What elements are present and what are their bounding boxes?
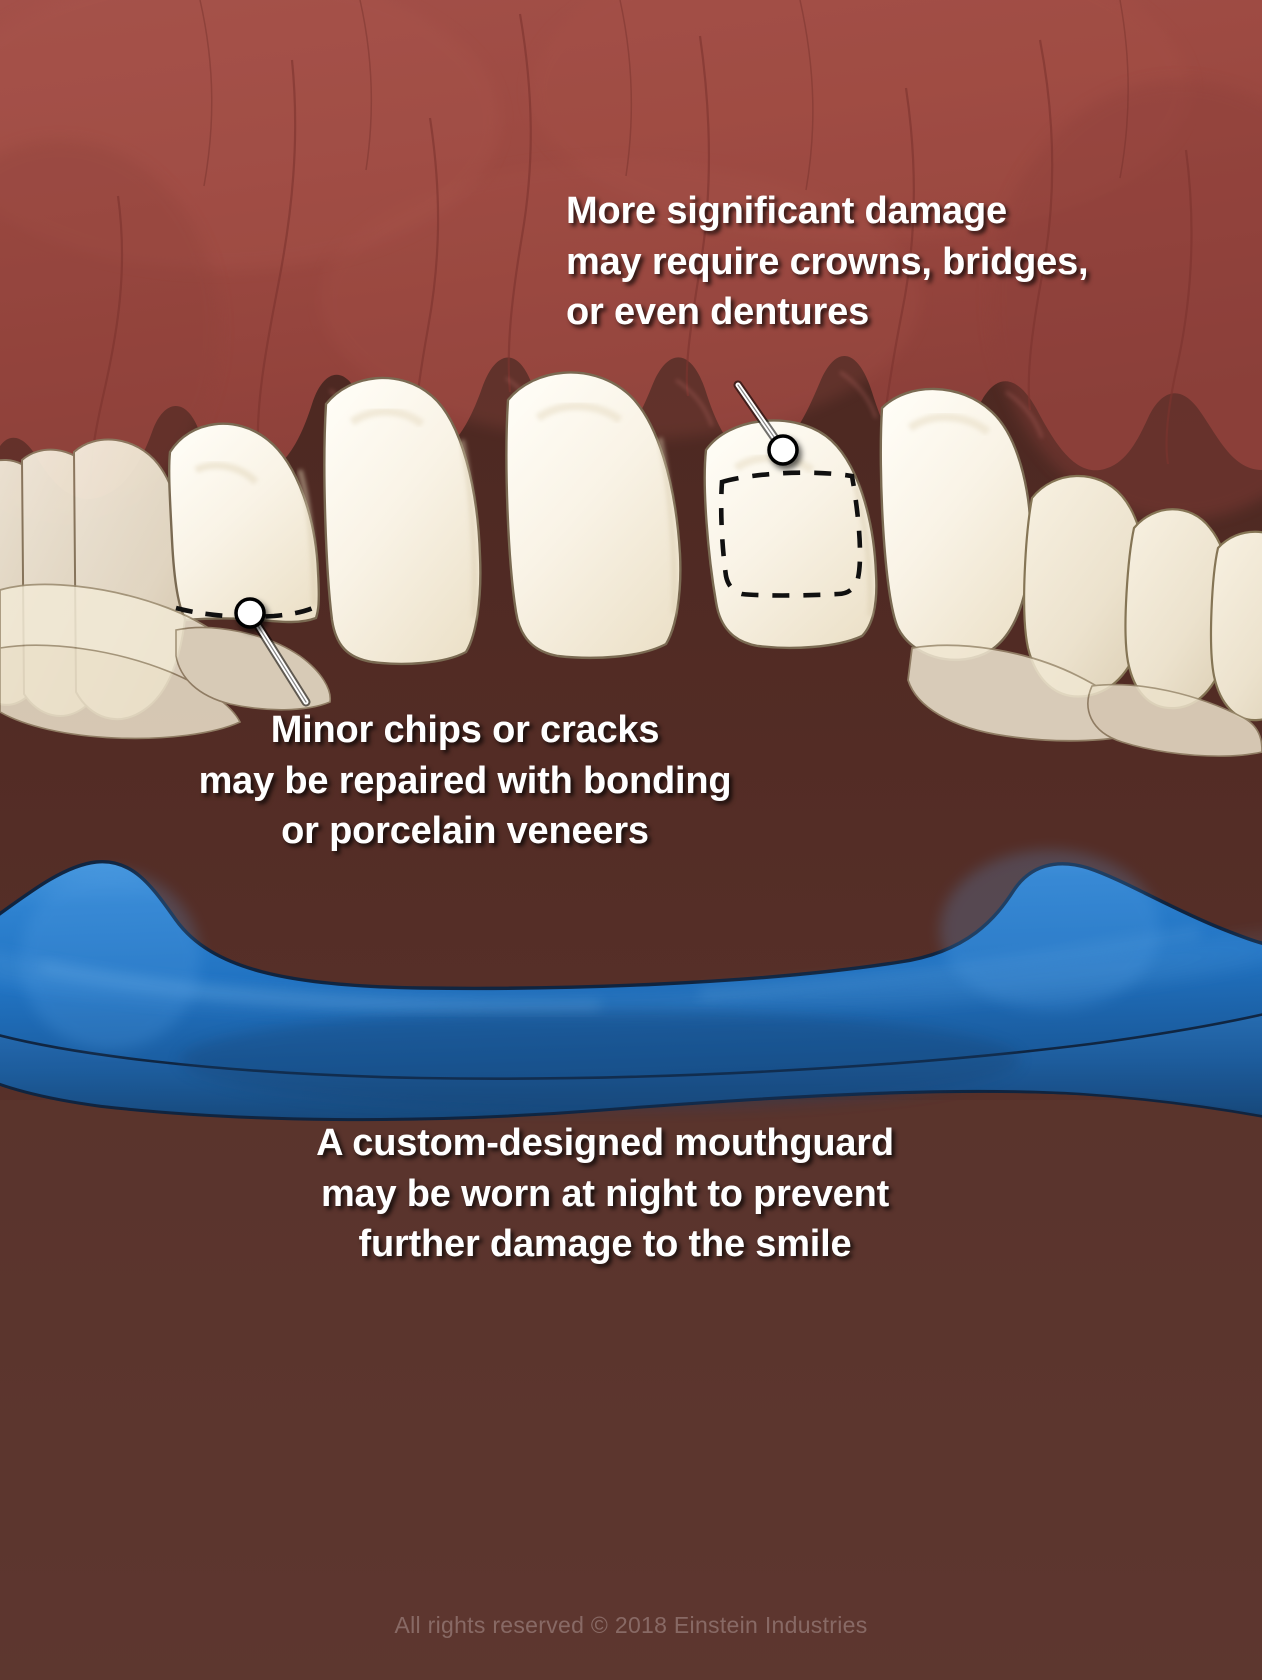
copyright-footer: All rights reserved © 2018 Einstein Indu…	[0, 1612, 1262, 1639]
tooth-molar-right-1	[1211, 532, 1262, 720]
marker-dot-crowns	[769, 436, 797, 464]
illustration-canvas: More significant damage may require crow…	[0, 0, 1262, 1680]
marker-dot-chips	[236, 599, 264, 627]
dental-illustration-artwork	[0, 0, 1262, 1680]
lower-mouth-field	[0, 1100, 1262, 1680]
